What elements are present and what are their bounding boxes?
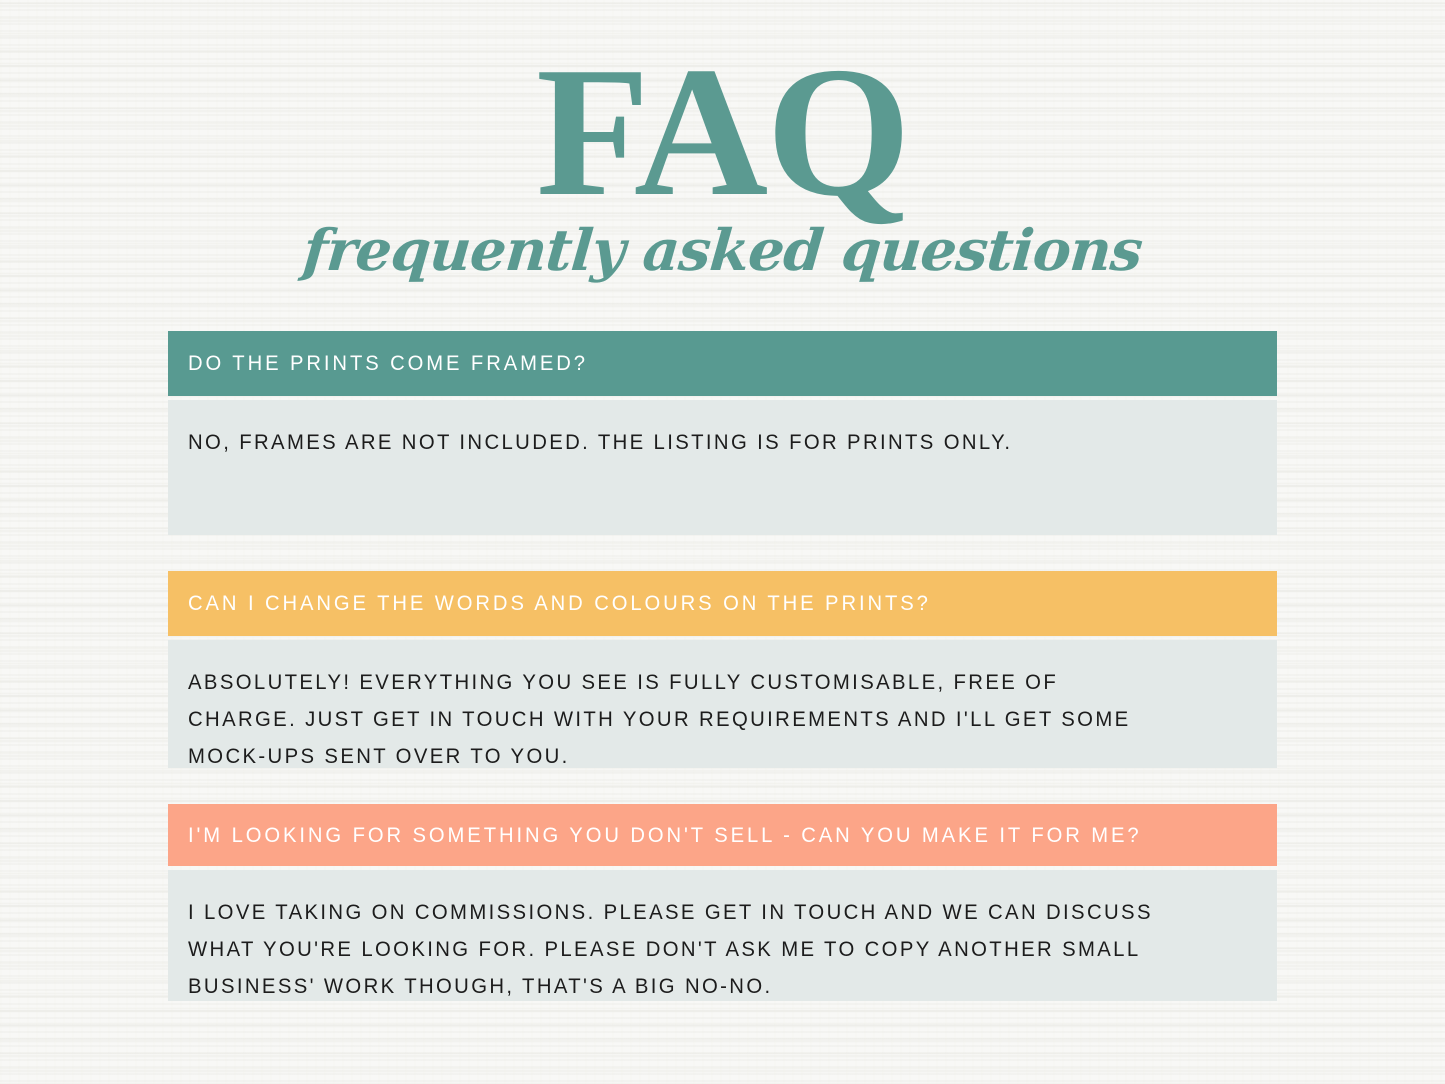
faq-answer-panel: ABSOLUTELY! EVERYTHING YOU SEE IS FULLY … <box>168 640 1277 768</box>
faq-question-text: I'M LOOKING FOR SOMETHING YOU DON'T SELL… <box>188 823 1142 848</box>
page-subtitle: frequently asked questions <box>0 217 1445 284</box>
faq-list: DO THE PRINTS COME FRAMED?NO, FRAMES ARE… <box>168 331 1277 1001</box>
faq-answer-line: ABSOLUTELY! EVERYTHING YOU SEE IS FULLY … <box>188 664 1198 701</box>
faq-answer-line: MOCK-UPS SENT OVER TO YOU. <box>188 738 1198 775</box>
faq-answer-line: I LOVE TAKING ON COMMISSIONS. PLEASE GET… <box>188 894 1198 931</box>
faq-question-bar[interactable]: I'M LOOKING FOR SOMETHING YOU DON'T SELL… <box>168 804 1277 866</box>
faq-answer-panel: NO, FRAMES ARE NOT INCLUDED. THE LISTING… <box>168 400 1277 535</box>
faq-answer-line: WHAT YOU'RE LOOKING FOR. PLEASE DON'T AS… <box>188 931 1198 968</box>
faq-item: CAN I CHANGE THE WORDS AND COLOURS ON TH… <box>168 571 1277 768</box>
faq-answer-line: CHARGE. JUST GET IN TOUCH WITH YOUR REQU… <box>188 701 1198 738</box>
faq-header: FAQ frequently asked questions <box>0 0 1445 284</box>
faq-item: DO THE PRINTS COME FRAMED?NO, FRAMES ARE… <box>168 331 1277 535</box>
faq-question-bar[interactable]: DO THE PRINTS COME FRAMED? <box>168 331 1277 396</box>
faq-answer-panel: I LOVE TAKING ON COMMISSIONS. PLEASE GET… <box>168 870 1277 1001</box>
page-title: FAQ <box>0 44 1445 221</box>
faq-question-text: DO THE PRINTS COME FRAMED? <box>188 351 588 376</box>
faq-answer-line: NO, FRAMES ARE NOT INCLUDED. THE LISTING… <box>188 424 1198 461</box>
faq-question-text: CAN I CHANGE THE WORDS AND COLOURS ON TH… <box>188 591 931 616</box>
faq-question-bar[interactable]: CAN I CHANGE THE WORDS AND COLOURS ON TH… <box>168 571 1277 636</box>
faq-answer-line: BUSINESS' WORK THOUGH, THAT'S A BIG NO-N… <box>188 968 1198 1005</box>
faq-item: I'M LOOKING FOR SOMETHING YOU DON'T SELL… <box>168 804 1277 1001</box>
